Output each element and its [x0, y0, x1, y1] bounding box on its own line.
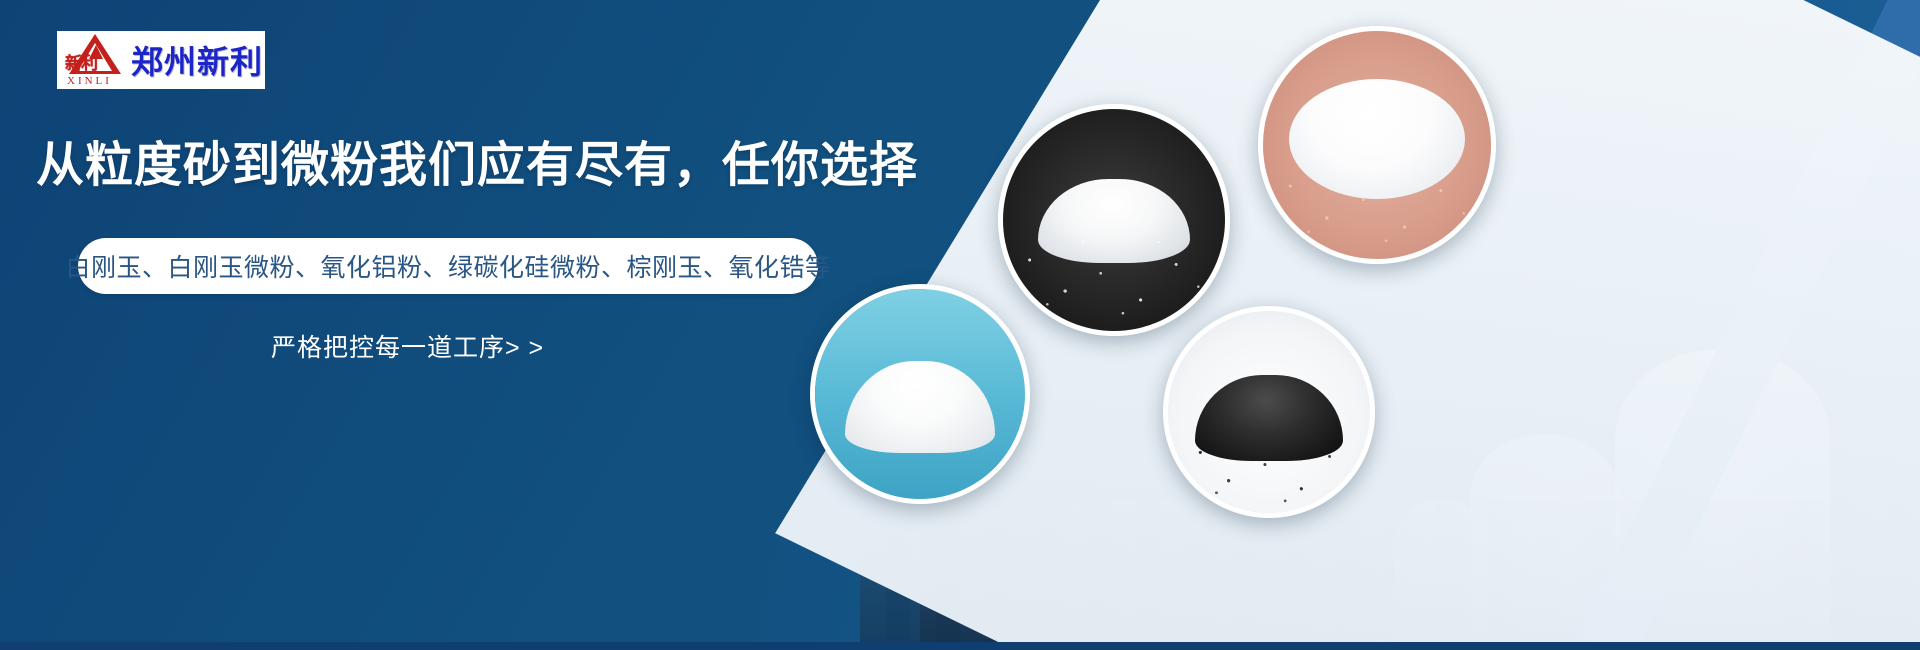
hero-banner: 新利 XINLI 郑州新利 从粒度砂到微粉我们应有尽有，任你选择 白刚玉、白刚玉…	[0, 0, 1920, 650]
material-grains	[1168, 311, 1370, 513]
cta-link[interactable]: 严格把控每一道工序> >	[271, 328, 544, 364]
bottom-bar	[0, 642, 1920, 650]
logo-mark-en-text: XINLI	[67, 76, 112, 87]
product-circle-black-granules	[1163, 306, 1375, 518]
product-circle-white-powder-pink	[1258, 26, 1496, 264]
product-circle-white-granules	[998, 104, 1230, 336]
triangle-mountain-icon: 新利 XINLI	[65, 34, 125, 86]
logo-mark-cn-text: 新利	[65, 55, 97, 72]
company-logo[interactable]: 新利 XINLI 郑州新利	[57, 31, 265, 89]
product-list-pill: 白刚玉、白刚玉微粉、氧化铝粉、绿碳化硅微粉、棕刚玉、氧化锆等	[78, 238, 818, 294]
product-circle-white-powder-teal	[810, 284, 1030, 504]
material-grains	[1003, 109, 1225, 331]
product-list-text: 白刚玉、白刚玉微粉、氧化铝粉、绿碳化硅微粉、棕刚玉、氧化锆等	[66, 248, 831, 284]
material-grains	[1263, 31, 1491, 259]
page-title: 从粒度砂到微粉我们应有尽有，任你选择	[36, 142, 918, 190]
company-name: 郑州新利	[131, 37, 263, 83]
